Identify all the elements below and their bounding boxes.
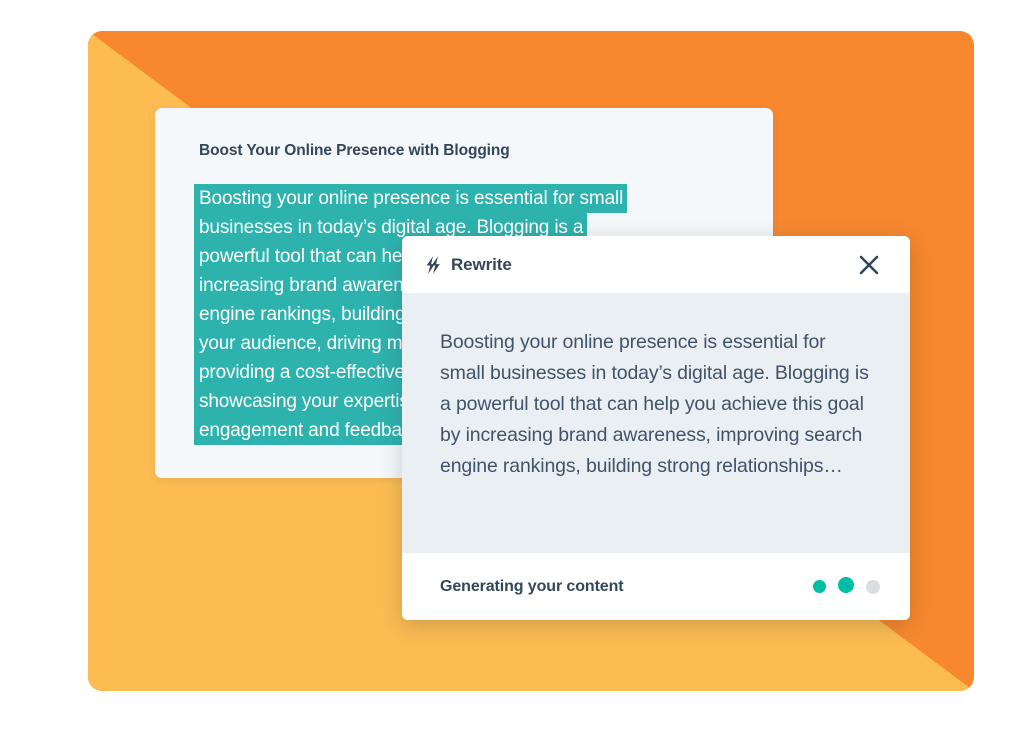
close-icon [858, 254, 880, 276]
double-lightning-bolt-icon [422, 255, 442, 275]
dialog-header: Rewrite [402, 236, 910, 293]
rewrite-dialog: Rewrite Boosting your online presence is… [402, 236, 910, 620]
close-button[interactable] [854, 250, 884, 280]
loading-dot-2 [838, 577, 854, 593]
loading-dots-indicator [813, 577, 880, 597]
dialog-body: Boosting your online presence is essenti… [402, 293, 910, 553]
dialog-footer: Generating your content [402, 553, 910, 620]
screenshot-stage: Boost Your Online Presence with Blogging… [0, 0, 1024, 731]
dialog-title: Rewrite [451, 255, 854, 275]
generating-status-label: Generating your content [440, 578, 813, 596]
loading-dot-3 [866, 580, 880, 594]
selected-line: Boosting your online presence is essenti… [194, 184, 627, 213]
document-title: Boost Your Online Presence with Blogging [199, 142, 773, 160]
loading-dot-1 [813, 580, 826, 593]
rewritten-content-text: Boosting your online presence is essenti… [440, 327, 872, 482]
selected-line: engagement and feedback. [194, 416, 430, 445]
